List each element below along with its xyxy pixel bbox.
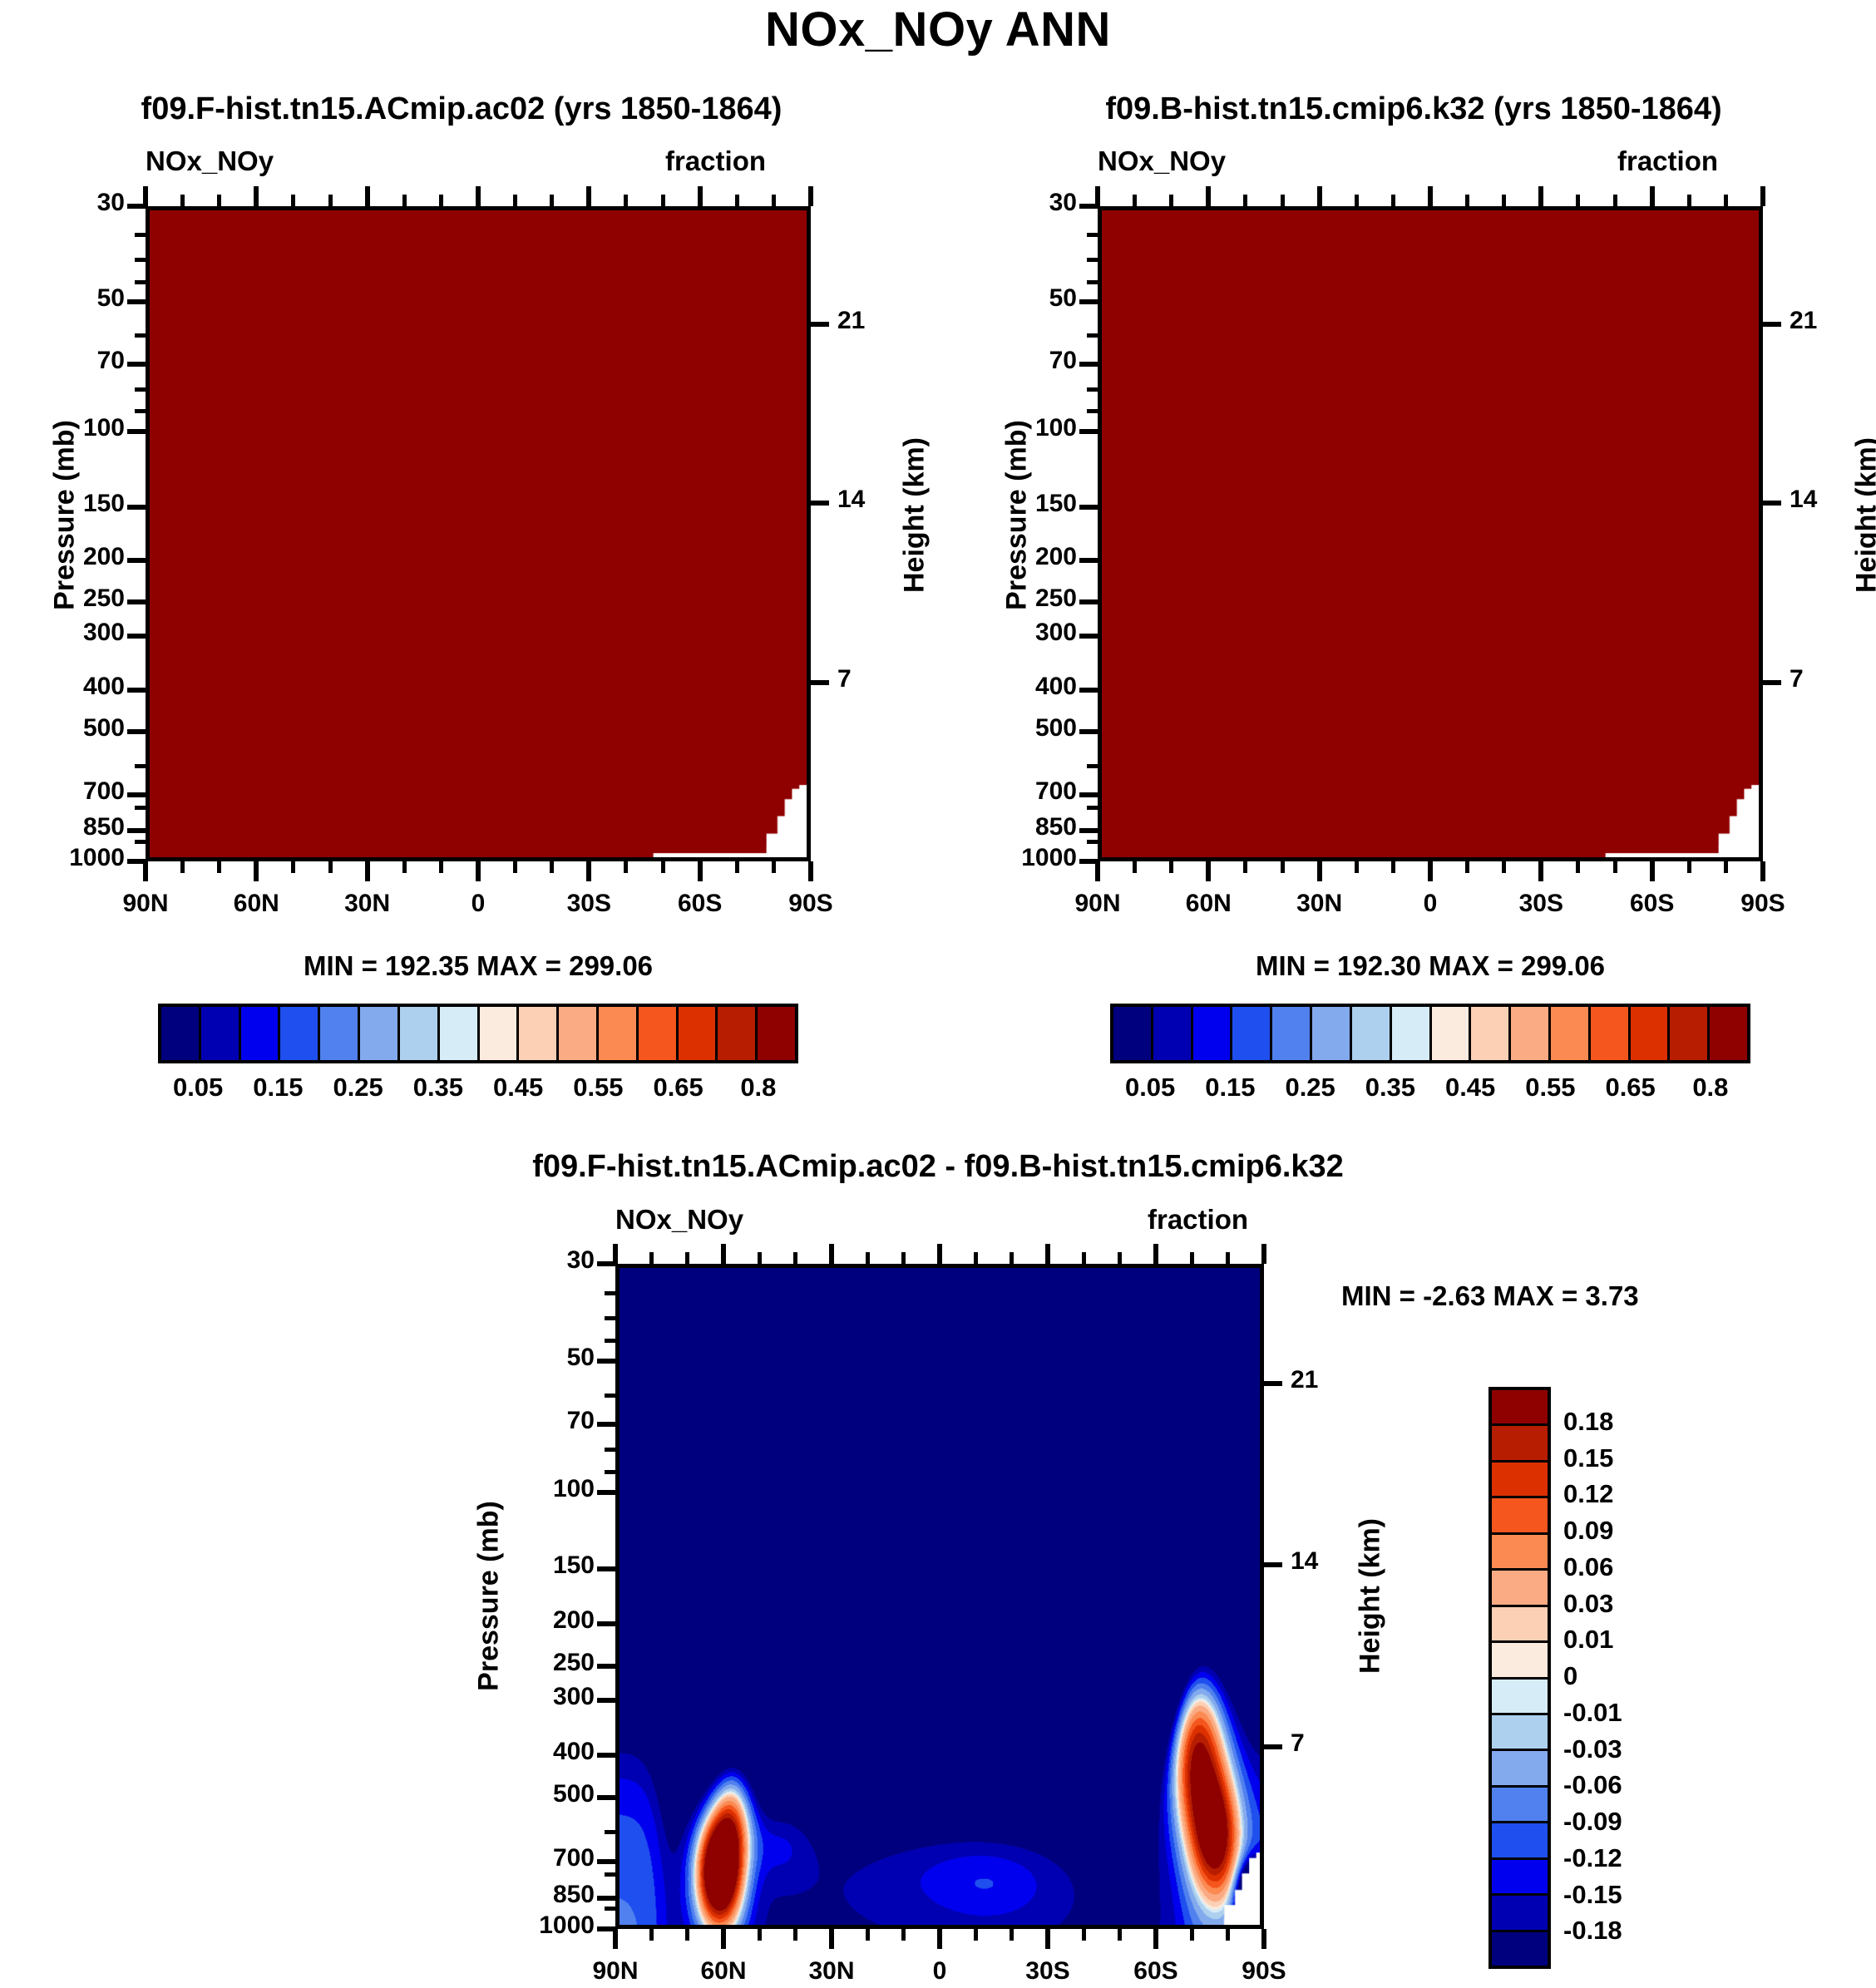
lat-tick-major-top — [1045, 1244, 1050, 1264]
lat-tick-minor-bottom — [1082, 1929, 1086, 1941]
lat-tick-minor-top — [685, 1252, 689, 1264]
lat-tick-minor-bottom — [1243, 861, 1247, 873]
lat-tick-minor-bottom — [901, 1929, 906, 1941]
colorbar-swatch[interactable] — [639, 1007, 679, 1060]
pressure-tick-label: 250 — [944, 585, 1077, 613]
lat-tick-minor-bottom — [439, 861, 443, 873]
pressure-tick-minor — [135, 806, 146, 810]
left-panel-colorbar-labels: 0.050.150.250.350.450.550.650.8 — [158, 1073, 798, 1107]
pressure-tick-major — [1079, 299, 1098, 304]
lat-tick-minor-top — [1724, 195, 1728, 206]
height-tick-label: 7 — [1291, 1729, 1382, 1758]
lat-tick-minor-top — [1010, 1252, 1014, 1264]
colorbar-swatch[interactable] — [1492, 1896, 1548, 1931]
height-tick-label: 14 — [1291, 1547, 1382, 1576]
pressure-tick-minor — [135, 280, 146, 284]
lat-tick-minor-top — [1082, 1252, 1086, 1264]
lat-tick-minor-bottom — [624, 861, 628, 873]
pressure-tick-label: 200 — [944, 543, 1077, 571]
pressure-tick-label: 100 — [944, 414, 1077, 442]
diff-panel-colorbar-labels: 0.180.150.120.090.060.030.010-0.01-0.03-… — [1563, 1387, 1730, 1969]
pressure-tick-major — [127, 505, 146, 510]
pressure-tick-major — [127, 299, 146, 304]
colorbar-swatch[interactable] — [161, 1007, 201, 1060]
pressure-tick-minor — [1087, 258, 1098, 262]
lat-tick-minor-top — [624, 195, 628, 206]
lat-tick-major-bottom — [829, 1929, 834, 1949]
lat-tick-minor-top — [1465, 195, 1469, 206]
lat-tick-minor-top — [758, 1252, 762, 1264]
lat-tick-minor-bottom — [1226, 1929, 1230, 1941]
right-panel-plot-area[interactable] — [1098, 206, 1763, 861]
lat-tick-minor-bottom — [1010, 1929, 1014, 1941]
pressure-tick-major — [1079, 429, 1098, 434]
pressure-tick-label: 700 — [462, 1844, 595, 1872]
pressure-tick-label: 1000 — [944, 844, 1077, 872]
pressure-tick-major — [127, 558, 146, 563]
pressure-tick-minor — [605, 1448, 615, 1452]
colorbar-tick-label: -0.03 — [1563, 1734, 1696, 1764]
lat-tick-minor-top — [901, 1252, 906, 1264]
lat-tick-major-top — [937, 1244, 942, 1264]
colorbar-swatch[interactable] — [1492, 1823, 1548, 1859]
lat-tick-major-bottom — [721, 1929, 726, 1949]
height-tick-major — [1264, 1562, 1282, 1567]
lat-tick-minor-bottom — [1687, 861, 1691, 873]
colorbar-tick-label: -0.09 — [1563, 1807, 1696, 1837]
colorbar-swatch[interactable] — [480, 1007, 520, 1060]
colorbar-swatch[interactable] — [1432, 1007, 1472, 1060]
lat-tick-minor-bottom — [1465, 861, 1469, 873]
lat-tick-minor-top — [402, 195, 407, 206]
lat-tick-major-bottom — [1153, 1929, 1158, 1949]
colorbar-swatch[interactable] — [320, 1007, 360, 1060]
lat-tick-major-bottom — [586, 861, 591, 881]
colorbar-tick-label: 0.8 — [692, 1073, 825, 1103]
pressure-tick-major — [597, 1896, 615, 1901]
lat-tick-minor-top — [550, 195, 554, 206]
lat-tick-minor-bottom — [217, 861, 221, 873]
pressure-tick-minor — [135, 333, 146, 338]
pressure-tick-minor — [135, 387, 146, 392]
colorbar-swatch[interactable] — [1492, 1643, 1548, 1679]
colorbar-tick-label: 0.03 — [1563, 1589, 1696, 1619]
lat-tick-major-bottom — [365, 861, 370, 881]
pressure-tick-label: 200 — [0, 543, 125, 571]
colorbar-swatch[interactable] — [1312, 1007, 1352, 1060]
pressure-tick-label: 100 — [462, 1475, 595, 1503]
pressure-tick-major — [127, 688, 146, 693]
colorbar-swatch[interactable] — [519, 1007, 559, 1060]
lat-tick-minor-top — [793, 1252, 797, 1264]
colorbar-swatch[interactable] — [1492, 1571, 1548, 1606]
colorbar-swatch[interactable] — [1492, 1715, 1548, 1751]
colorbar-swatch[interactable] — [201, 1007, 241, 1060]
colorbar-tick-label: 0.8 — [1644, 1073, 1777, 1103]
diff-panel-title: f09.F-hist.tn15.ACmip.ac02 - f09.B-hist.… — [356, 1149, 1520, 1185]
colorbar-swatch[interactable] — [1113, 1007, 1153, 1060]
colorbar-swatch[interactable] — [1591, 1007, 1631, 1060]
lat-tick-minor-bottom — [735, 861, 739, 873]
lat-tick-minor-top — [1502, 195, 1506, 206]
colorbar-swatch[interactable] — [559, 1007, 599, 1060]
right-panel-contour-fill — [1102, 210, 1759, 857]
height-tick-major — [1763, 322, 1781, 327]
lat-tick-minor-top — [1169, 195, 1173, 206]
lat-tick-major-top — [613, 1244, 618, 1264]
pressure-tick-label: 1000 — [0, 844, 125, 872]
lat-tick-major-bottom — [1650, 861, 1655, 881]
pressure-tick-label: 400 — [462, 1738, 595, 1766]
pressure-tick-minor — [605, 1316, 615, 1320]
lat-tick-minor-top — [291, 195, 295, 206]
lat-tick-minor-bottom — [180, 861, 185, 873]
diff-panel-plot-area[interactable] — [615, 1264, 1264, 1929]
pressure-tick-major — [1079, 792, 1098, 797]
colorbar-swatch[interactable] — [1492, 1751, 1548, 1787]
lat-tick-minor-top — [649, 1252, 654, 1264]
lat-tick-minor-bottom — [550, 861, 554, 873]
lat-tick-minor-bottom — [1724, 861, 1728, 873]
height-tick-major — [1763, 680, 1781, 685]
lat-tick-minor-top — [217, 195, 221, 206]
pressure-tick-label: 200 — [462, 1606, 595, 1635]
lat-tick-minor-bottom — [291, 861, 295, 873]
lat-tick-major-top — [829, 1244, 834, 1264]
lat-tick-minor-bottom — [1169, 861, 1173, 873]
colorbar-swatch[interactable] — [1492, 1788, 1548, 1823]
pressure-tick-major — [597, 1795, 615, 1800]
height-tick-major — [811, 680, 829, 685]
colorbar-tick-label: -0.12 — [1563, 1843, 1696, 1873]
diff-panel-units-label: fraction — [1148, 1204, 1248, 1236]
colorbar-swatch[interactable] — [599, 1007, 639, 1060]
pressure-tick-major — [127, 792, 146, 797]
lat-tick-minor-top — [1687, 195, 1691, 206]
right-panel-variable-label: NOx_NOy — [1098, 146, 1226, 177]
lat-tick-major-bottom — [613, 1929, 618, 1949]
colorbar-swatch[interactable] — [360, 1007, 400, 1060]
lat-tick-major-top — [1538, 186, 1543, 206]
lat-tick-major-top — [808, 186, 813, 206]
lat-tick-major-top — [698, 186, 703, 206]
colorbar-tick-label: -0.18 — [1563, 1916, 1696, 1946]
lat-tick-minor-bottom — [402, 861, 407, 873]
lat-tick-minor-top — [439, 195, 443, 206]
lat-tick-minor-bottom — [1190, 1929, 1194, 1941]
pressure-tick-label: 400 — [944, 673, 1077, 701]
colorbar-swatch[interactable] — [1352, 1007, 1392, 1060]
left-panel-contour-fill — [150, 210, 807, 857]
colorbar-swatch[interactable] — [1631, 1007, 1671, 1060]
colorbar-swatch[interactable] — [1710, 1007, 1747, 1060]
diff-panel-contour-fill — [620, 1268, 1260, 1925]
pressure-tick-minor — [135, 258, 146, 262]
lat-tick-minor-top — [661, 195, 665, 206]
pressure-tick-label: 850 — [0, 813, 125, 841]
lat-tick-minor-top — [1190, 1252, 1194, 1264]
pressure-tick-label: 300 — [462, 1683, 595, 1711]
colorbar-swatch[interactable] — [280, 1007, 320, 1060]
lat-tick-minor-top — [1118, 1252, 1122, 1264]
pressure-tick-label: 150 — [462, 1551, 595, 1580]
pressure-tick-minor — [605, 1470, 615, 1474]
pressure-tick-major — [1079, 599, 1098, 604]
colorbar-tick-label: 0 — [1563, 1661, 1696, 1691]
pressure-tick-major — [597, 1422, 615, 1427]
pressure-tick-label: 150 — [0, 490, 125, 518]
pressure-tick-major — [1079, 505, 1098, 510]
lat-tick-major-bottom — [476, 861, 481, 881]
pressure-tick-major — [127, 828, 146, 833]
pressure-tick-major — [127, 729, 146, 734]
pressure-tick-major — [1079, 688, 1098, 693]
lat-tick-minor-top — [1355, 195, 1359, 206]
colorbar-swatch[interactable] — [1153, 1007, 1193, 1060]
lat-tick-minor-bottom — [1281, 861, 1285, 873]
height-tick-major — [811, 322, 829, 327]
pressure-tick-minor — [605, 1872, 615, 1877]
colorbar-swatch[interactable] — [1492, 1607, 1548, 1643]
pressure-tick-minor — [1087, 280, 1098, 284]
colorbar-tick-label: -0.01 — [1563, 1698, 1696, 1728]
lat-tick-minor-top — [1576, 195, 1580, 206]
lat-tick-major-top — [1317, 186, 1322, 206]
colorbar-swatch[interactable] — [1492, 1860, 1548, 1896]
pressure-tick-major — [597, 1566, 615, 1571]
lat-tick-major-top — [1153, 1244, 1158, 1264]
page-title: NOx_NOy ANN — [0, 2, 1876, 57]
pressure-tick-minor — [605, 1394, 615, 1398]
right-panel-title: f09.B-hist.tn15.cmip6.k32 (yrs 1850-1864… — [969, 91, 1859, 127]
height-tick-major — [1763, 501, 1781, 506]
lat-tick-minor-top — [974, 1252, 978, 1264]
lat-tick-minor-bottom — [1613, 861, 1617, 873]
lat-tick-minor-bottom — [758, 1929, 762, 1941]
colorbar-tick-label: 0.06 — [1563, 1552, 1696, 1582]
lat-tick-minor-bottom — [1576, 861, 1580, 873]
lat-tick-major-bottom — [937, 1929, 942, 1949]
lat-tick-major-bottom — [1760, 861, 1765, 881]
colorbar-swatch[interactable] — [1272, 1007, 1312, 1060]
colorbar-swatch[interactable] — [1492, 1535, 1548, 1571]
pressure-tick-label: 300 — [0, 619, 125, 647]
lat-tick-minor-bottom — [1355, 861, 1359, 873]
lat-tick-major-bottom — [1428, 861, 1433, 881]
colorbar-swatch[interactable] — [1492, 1390, 1548, 1426]
lat-tick-major-top — [254, 186, 259, 206]
lat-tick-minor-bottom — [1391, 861, 1395, 873]
left-panel-units-label: fraction — [665, 146, 766, 177]
lat-tick-minor-top — [866, 1252, 870, 1264]
pressure-tick-label: 850 — [944, 813, 1077, 841]
pressure-tick-label: 30 — [462, 1246, 595, 1275]
pressure-tick-label: 300 — [944, 619, 1077, 647]
colorbar-swatch[interactable] — [718, 1007, 758, 1060]
colorbar-tick-label: -0.15 — [1563, 1880, 1696, 1910]
colorbar-tick-label: 0.01 — [1563, 1625, 1696, 1655]
left-panel-colorbar[interactable] — [158, 1004, 798, 1063]
lat-tick-minor-top — [328, 195, 333, 206]
colorbar-swatch[interactable] — [1392, 1007, 1432, 1060]
colorbar-swatch[interactable] — [241, 1007, 281, 1060]
pressure-tick-label: 400 — [0, 673, 125, 701]
pressure-tick-major — [1079, 634, 1098, 639]
diff-panel-colorbar[interactable] — [1488, 1387, 1551, 1969]
pressure-tick-label: 850 — [462, 1881, 595, 1909]
lat-tick-label: 90S — [1189, 1957, 1339, 1986]
lat-tick-minor-top — [1243, 195, 1247, 206]
colorbar-swatch[interactable] — [1471, 1007, 1511, 1060]
right-panel-units-label: fraction — [1617, 146, 1718, 177]
lat-tick-major-top — [1650, 186, 1655, 206]
lat-tick-minor-top — [1226, 1252, 1230, 1264]
colorbar-tick-label: 0.12 — [1563, 1479, 1696, 1509]
lat-tick-major-top — [1095, 186, 1100, 206]
colorbar-tick-label: 0.18 — [1563, 1407, 1696, 1437]
lat-tick-minor-bottom — [866, 1929, 870, 1941]
colorbar-swatch[interactable] — [1511, 1007, 1551, 1060]
pressure-tick-major — [127, 599, 146, 604]
pressure-tick-label: 100 — [0, 414, 125, 442]
pressure-tick-minor — [135, 233, 146, 237]
colorbar-swatch[interactable] — [1492, 1463, 1548, 1498]
pressure-tick-major — [597, 1359, 615, 1364]
height-tick-label: 21 — [1291, 1366, 1382, 1394]
colorbar-swatch[interactable] — [758, 1007, 795, 1060]
pressure-tick-label: 30 — [0, 189, 125, 217]
lat-tick-minor-top — [1391, 195, 1395, 206]
height-tick-major — [811, 501, 829, 506]
lat-tick-major-bottom — [1317, 861, 1322, 881]
pressure-tick-label: 30 — [944, 189, 1077, 217]
lat-tick-major-bottom — [254, 861, 259, 881]
lat-tick-major-top — [1206, 186, 1211, 206]
colorbar-swatch[interactable] — [1492, 1426, 1548, 1462]
right-panel-colorbar-labels: 0.050.150.250.350.450.550.650.8 — [1110, 1073, 1750, 1107]
pressure-tick-label: 50 — [944, 284, 1077, 313]
lat-tick-minor-bottom — [513, 861, 517, 873]
lat-tick-major-top — [721, 1244, 726, 1264]
lat-tick-major-bottom — [1538, 861, 1543, 881]
pressure-tick-minor — [605, 1907, 615, 1911]
pressure-tick-label: 250 — [0, 585, 125, 613]
pressure-tick-major — [127, 634, 146, 639]
pressure-tick-label: 70 — [944, 347, 1077, 375]
lat-tick-minor-bottom — [1118, 1929, 1122, 1941]
lat-tick-major-bottom — [808, 861, 813, 881]
right-panel-colorbar[interactable] — [1110, 1004, 1750, 1063]
pressure-tick-major — [597, 1664, 615, 1669]
pressure-tick-label: 50 — [462, 1344, 595, 1372]
diff-panel-y2-axis-label: Height (km) — [1355, 1472, 1387, 1721]
left-panel-plot-area[interactable] — [146, 206, 811, 861]
left-panel-y2-axis-label: Height (km) — [899, 391, 931, 640]
lat-tick-major-top — [365, 186, 370, 206]
pressure-tick-major — [1079, 558, 1098, 563]
lat-tick-minor-bottom — [328, 861, 333, 873]
pressure-tick-minor — [605, 1291, 615, 1295]
pressure-tick-minor — [1087, 806, 1098, 810]
lat-tick-label: 90S — [736, 890, 886, 918]
colorbar-swatch[interactable] — [400, 1007, 440, 1060]
pressure-tick-label: 500 — [462, 1780, 595, 1808]
pressure-tick-minor — [135, 409, 146, 413]
lat-tick-minor-bottom — [772, 861, 776, 873]
lat-tick-minor-bottom — [793, 1929, 797, 1941]
lat-tick-minor-bottom — [1502, 861, 1506, 873]
pressure-tick-major — [127, 362, 146, 367]
lat-tick-minor-bottom — [661, 861, 665, 873]
colorbar-tick-label: 0.09 — [1563, 1516, 1696, 1546]
lat-tick-major-top — [586, 186, 591, 206]
height-tick-label: 7 — [837, 665, 929, 693]
lat-tick-major-top — [1760, 186, 1765, 206]
pressure-tick-major — [127, 429, 146, 434]
pressure-tick-minor — [1087, 233, 1098, 237]
pressure-tick-minor — [135, 764, 146, 768]
pressure-tick-label: 700 — [0, 777, 125, 806]
colorbar-swatch[interactable] — [1232, 1007, 1272, 1060]
lat-tick-minor-top — [772, 195, 776, 206]
pressure-tick-label: 70 — [0, 347, 125, 375]
lat-tick-major-bottom — [1261, 1929, 1266, 1949]
left-panel-variable-label: NOx_NOy — [146, 146, 274, 177]
colorbar-swatch[interactable] — [440, 1007, 480, 1060]
lat-tick-minor-bottom — [974, 1929, 978, 1941]
pressure-tick-major — [597, 1859, 615, 1864]
pressure-tick-label: 150 — [944, 490, 1077, 518]
pressure-tick-major — [597, 1753, 615, 1758]
lat-tick-major-top — [476, 186, 481, 206]
pressure-tick-label: 700 — [944, 777, 1077, 806]
lat-tick-minor-bottom — [1133, 861, 1137, 873]
colorbar-swatch[interactable] — [1492, 1680, 1548, 1715]
lat-tick-minor-bottom — [685, 1929, 689, 1941]
pressure-tick-major — [1079, 362, 1098, 367]
lat-tick-minor-top — [1133, 195, 1137, 206]
lat-tick-label: 90S — [1688, 890, 1838, 918]
pressure-tick-minor — [1087, 764, 1098, 768]
colorbar-swatch[interactable] — [679, 1007, 718, 1060]
height-tick-major — [1264, 1381, 1282, 1386]
lat-tick-major-bottom — [1045, 1929, 1050, 1949]
lat-tick-minor-top — [1281, 195, 1285, 206]
colorbar-swatch[interactable] — [1670, 1007, 1710, 1060]
pressure-tick-major — [1079, 729, 1098, 734]
colorbar-tick-label: -0.06 — [1563, 1770, 1696, 1800]
pressure-tick-major — [597, 1490, 615, 1495]
height-tick-label: 21 — [1790, 307, 1876, 335]
right-panel-minmax: MIN = 192.30 MAX = 299.06 — [1098, 950, 1763, 982]
left-panel-title: f09.F-hist.tn15.ACmip.ac02 (yrs 1850-186… — [17, 91, 906, 127]
colorbar-swatch[interactable] — [1551, 1007, 1591, 1060]
colorbar-swatch[interactable] — [1193, 1007, 1233, 1060]
colorbar-swatch[interactable] — [1492, 1498, 1548, 1534]
pressure-tick-major — [597, 1621, 615, 1626]
height-tick-label: 14 — [1790, 486, 1876, 514]
left-panel-minmax: MIN = 192.35 MAX = 299.06 — [146, 950, 811, 982]
pressure-tick-minor — [605, 1830, 615, 1834]
lat-tick-major-bottom — [698, 861, 703, 881]
colorbar-swatch[interactable] — [1492, 1932, 1548, 1966]
pressure-tick-label: 1000 — [462, 1912, 595, 1940]
pressure-tick-label: 500 — [944, 714, 1077, 742]
lat-tick-major-top — [1261, 1244, 1266, 1264]
pressure-tick-label: 50 — [0, 284, 125, 313]
lat-tick-major-bottom — [143, 861, 148, 881]
lat-tick-major-top — [1428, 186, 1433, 206]
